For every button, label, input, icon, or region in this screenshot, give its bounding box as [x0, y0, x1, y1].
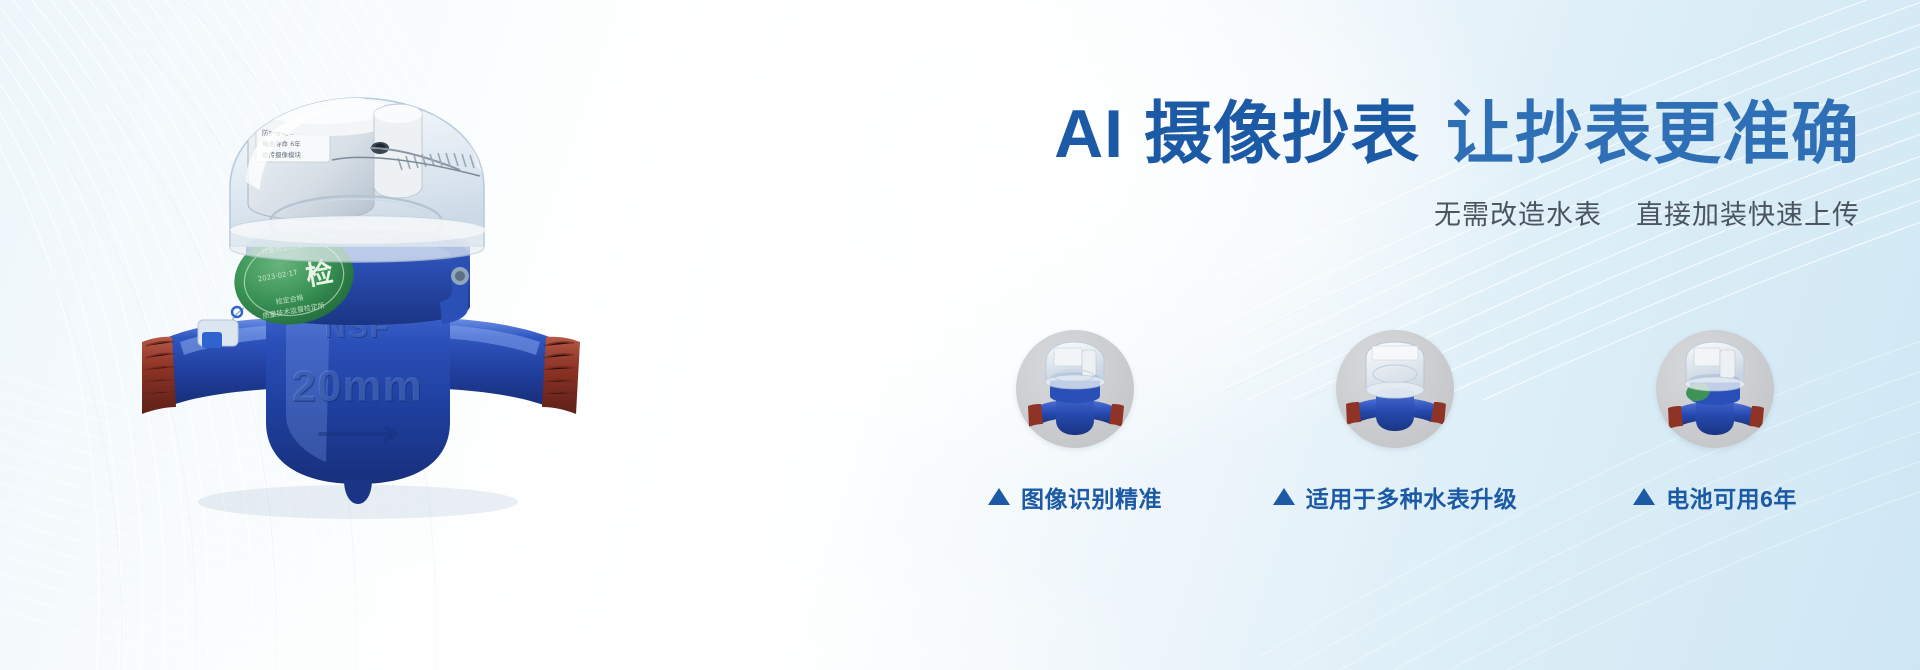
- triangle-bullet-icon: [1273, 488, 1295, 505]
- water-meter-photo-icon: [1016, 330, 1134, 448]
- feature-label: 适用于多种水表升级: [1306, 480, 1518, 514]
- feature-item[interactable]: 图像识别精准: [930, 330, 1220, 514]
- headline-secondary: 让抄表更准确: [1446, 96, 1860, 172]
- subtitle: 无需改造水表直接加装快速上传: [700, 198, 1860, 233]
- svg-text:20mm: 20mm: [291, 362, 422, 411]
- feature-item[interactable]: 适用于多种水表升级: [1250, 330, 1540, 514]
- feature-label: 电池可用6年: [1666, 480, 1797, 514]
- headline-main: AI 摄像抄表: [1054, 96, 1420, 172]
- promo-banner: NSF NSF 20mm 20mm 检 计量检定合格证 2023·02·17: [0, 0, 1920, 670]
- feature-caption: 适用于多种水表升级: [1273, 480, 1518, 514]
- triangle-bullet-icon: [1633, 488, 1655, 505]
- feature-item[interactable]: 电池可用6年: [1570, 330, 1860, 514]
- feature-list: 图像识别精准: [930, 330, 1860, 514]
- feature-caption: 电池可用6年: [1633, 480, 1797, 514]
- water-meter-photo-icon: [1336, 330, 1454, 448]
- feature-caption: 图像识别精准: [988, 480, 1162, 514]
- feature-label: 图像识别精准: [1021, 480, 1162, 514]
- hero-product-image: NSF NSF 20mm 20mm 检 计量检定合格证 2023·02·17: [80, 70, 640, 540]
- subtitle-part-1: 无需改造水表: [1434, 200, 1602, 230]
- page-title: AI 摄像抄表让抄表更准确: [700, 96, 1860, 172]
- subtitle-part-2: 直接加装快速上传: [1636, 200, 1860, 230]
- headline-block: AI 摄像抄表让抄表更准确 无需改造水表直接加装快速上传: [700, 96, 1860, 233]
- water-meter-photo-icon: [1656, 330, 1774, 448]
- triangle-bullet-icon: [988, 488, 1010, 505]
